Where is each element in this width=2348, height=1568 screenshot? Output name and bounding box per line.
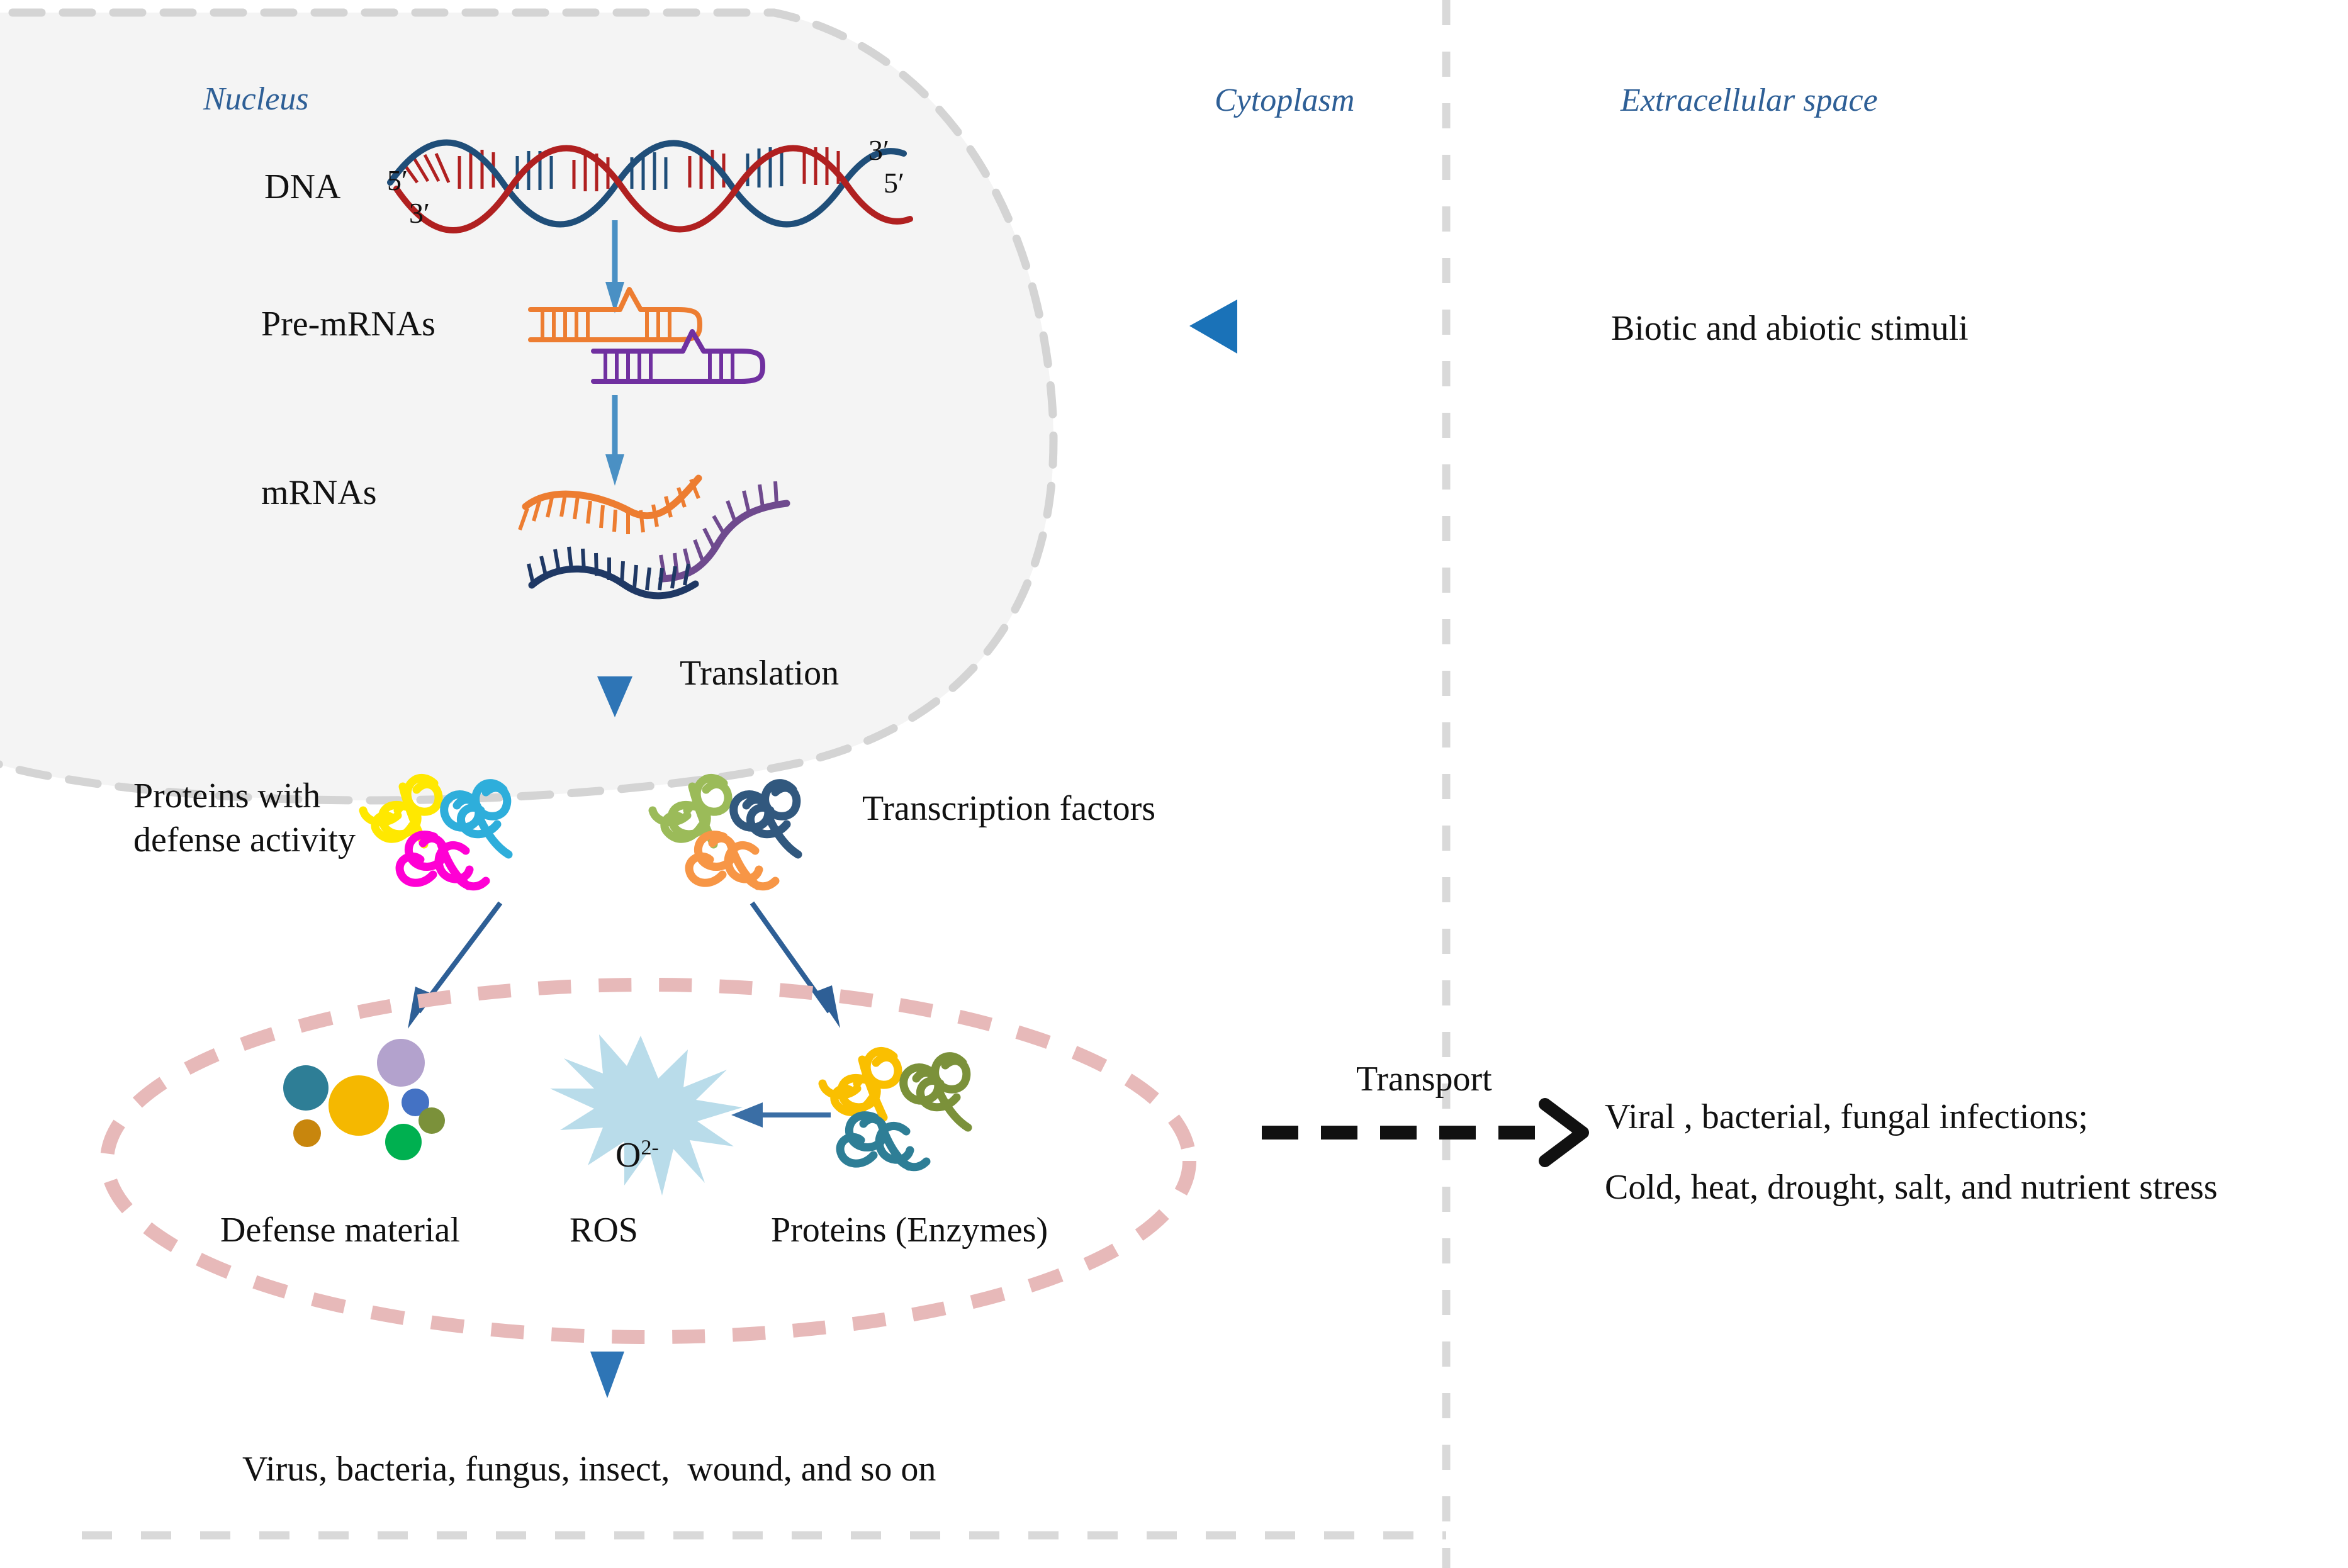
bottom-targets-label: Virus, bacteria, fungus, insect, wound, … bbox=[242, 1447, 936, 1491]
transport-label: Transport bbox=[1356, 1057, 1492, 1101]
ros-species-label: O2- bbox=[598, 1095, 659, 1175]
ros-species-symbol: O bbox=[615, 1136, 641, 1175]
compartment-label-extracellular: Extracellular space bbox=[1621, 82, 1878, 119]
ros-label: ROS bbox=[570, 1208, 638, 1252]
stimuli-label: Biotic and abiotic stimuli bbox=[1611, 306, 1969, 350]
translation-label: Translation bbox=[680, 651, 839, 695]
arrow-defense-to-vesicle bbox=[408, 903, 500, 1029]
arrow-enzymes-to-ros bbox=[731, 1102, 831, 1128]
enzyme-protein-cluster-icon bbox=[823, 1051, 968, 1167]
dna-end-3prime-left: 3′ bbox=[409, 195, 430, 232]
compartment-label-cytoplasm: Cytoplasm bbox=[1215, 82, 1354, 119]
ros-charge-superscript: 2- bbox=[641, 1136, 658, 1159]
transcription-factor-cluster-icon bbox=[653, 778, 798, 886]
mrna-label: mRNAs bbox=[261, 471, 377, 515]
stress-line-abiotic: Cold, heat, drought, salt, and nutrient … bbox=[1605, 1165, 2218, 1209]
enzymes-label: Proteins (Enzymes) bbox=[771, 1208, 1048, 1252]
defense-material-particles bbox=[283, 1039, 445, 1160]
defense-material-label: Defense material bbox=[220, 1208, 460, 1252]
nucleus-membrane bbox=[0, 13, 1053, 800]
dna-end-5prime-right: 5′ bbox=[884, 165, 904, 201]
dna-label: DNA bbox=[264, 165, 340, 209]
transcription-factors-label: Transcription factors bbox=[862, 787, 1155, 831]
compartment-label-nucleus: Nucleus bbox=[203, 81, 309, 118]
arrow-tf-to-vesicle bbox=[752, 903, 840, 1028]
dna-end-3prime-right: 3′ bbox=[868, 132, 889, 169]
arrow-stimuli-inbound bbox=[1189, 300, 1586, 354]
stress-line-infections: Viral , bacterial, fungal infections; bbox=[1605, 1095, 2088, 1139]
defense-proteins-label: Proteins with defense activity bbox=[133, 774, 356, 862]
pre-mrna-label: Pre-mRNAs bbox=[261, 302, 435, 346]
diagram-canvas: Nucleus Cytoplasm Extracellular space DN… bbox=[0, 0, 2348, 1568]
arrow-transport-outbound bbox=[1262, 1104, 1583, 1161]
dna-end-5prime-left: 5′ bbox=[387, 162, 408, 199]
